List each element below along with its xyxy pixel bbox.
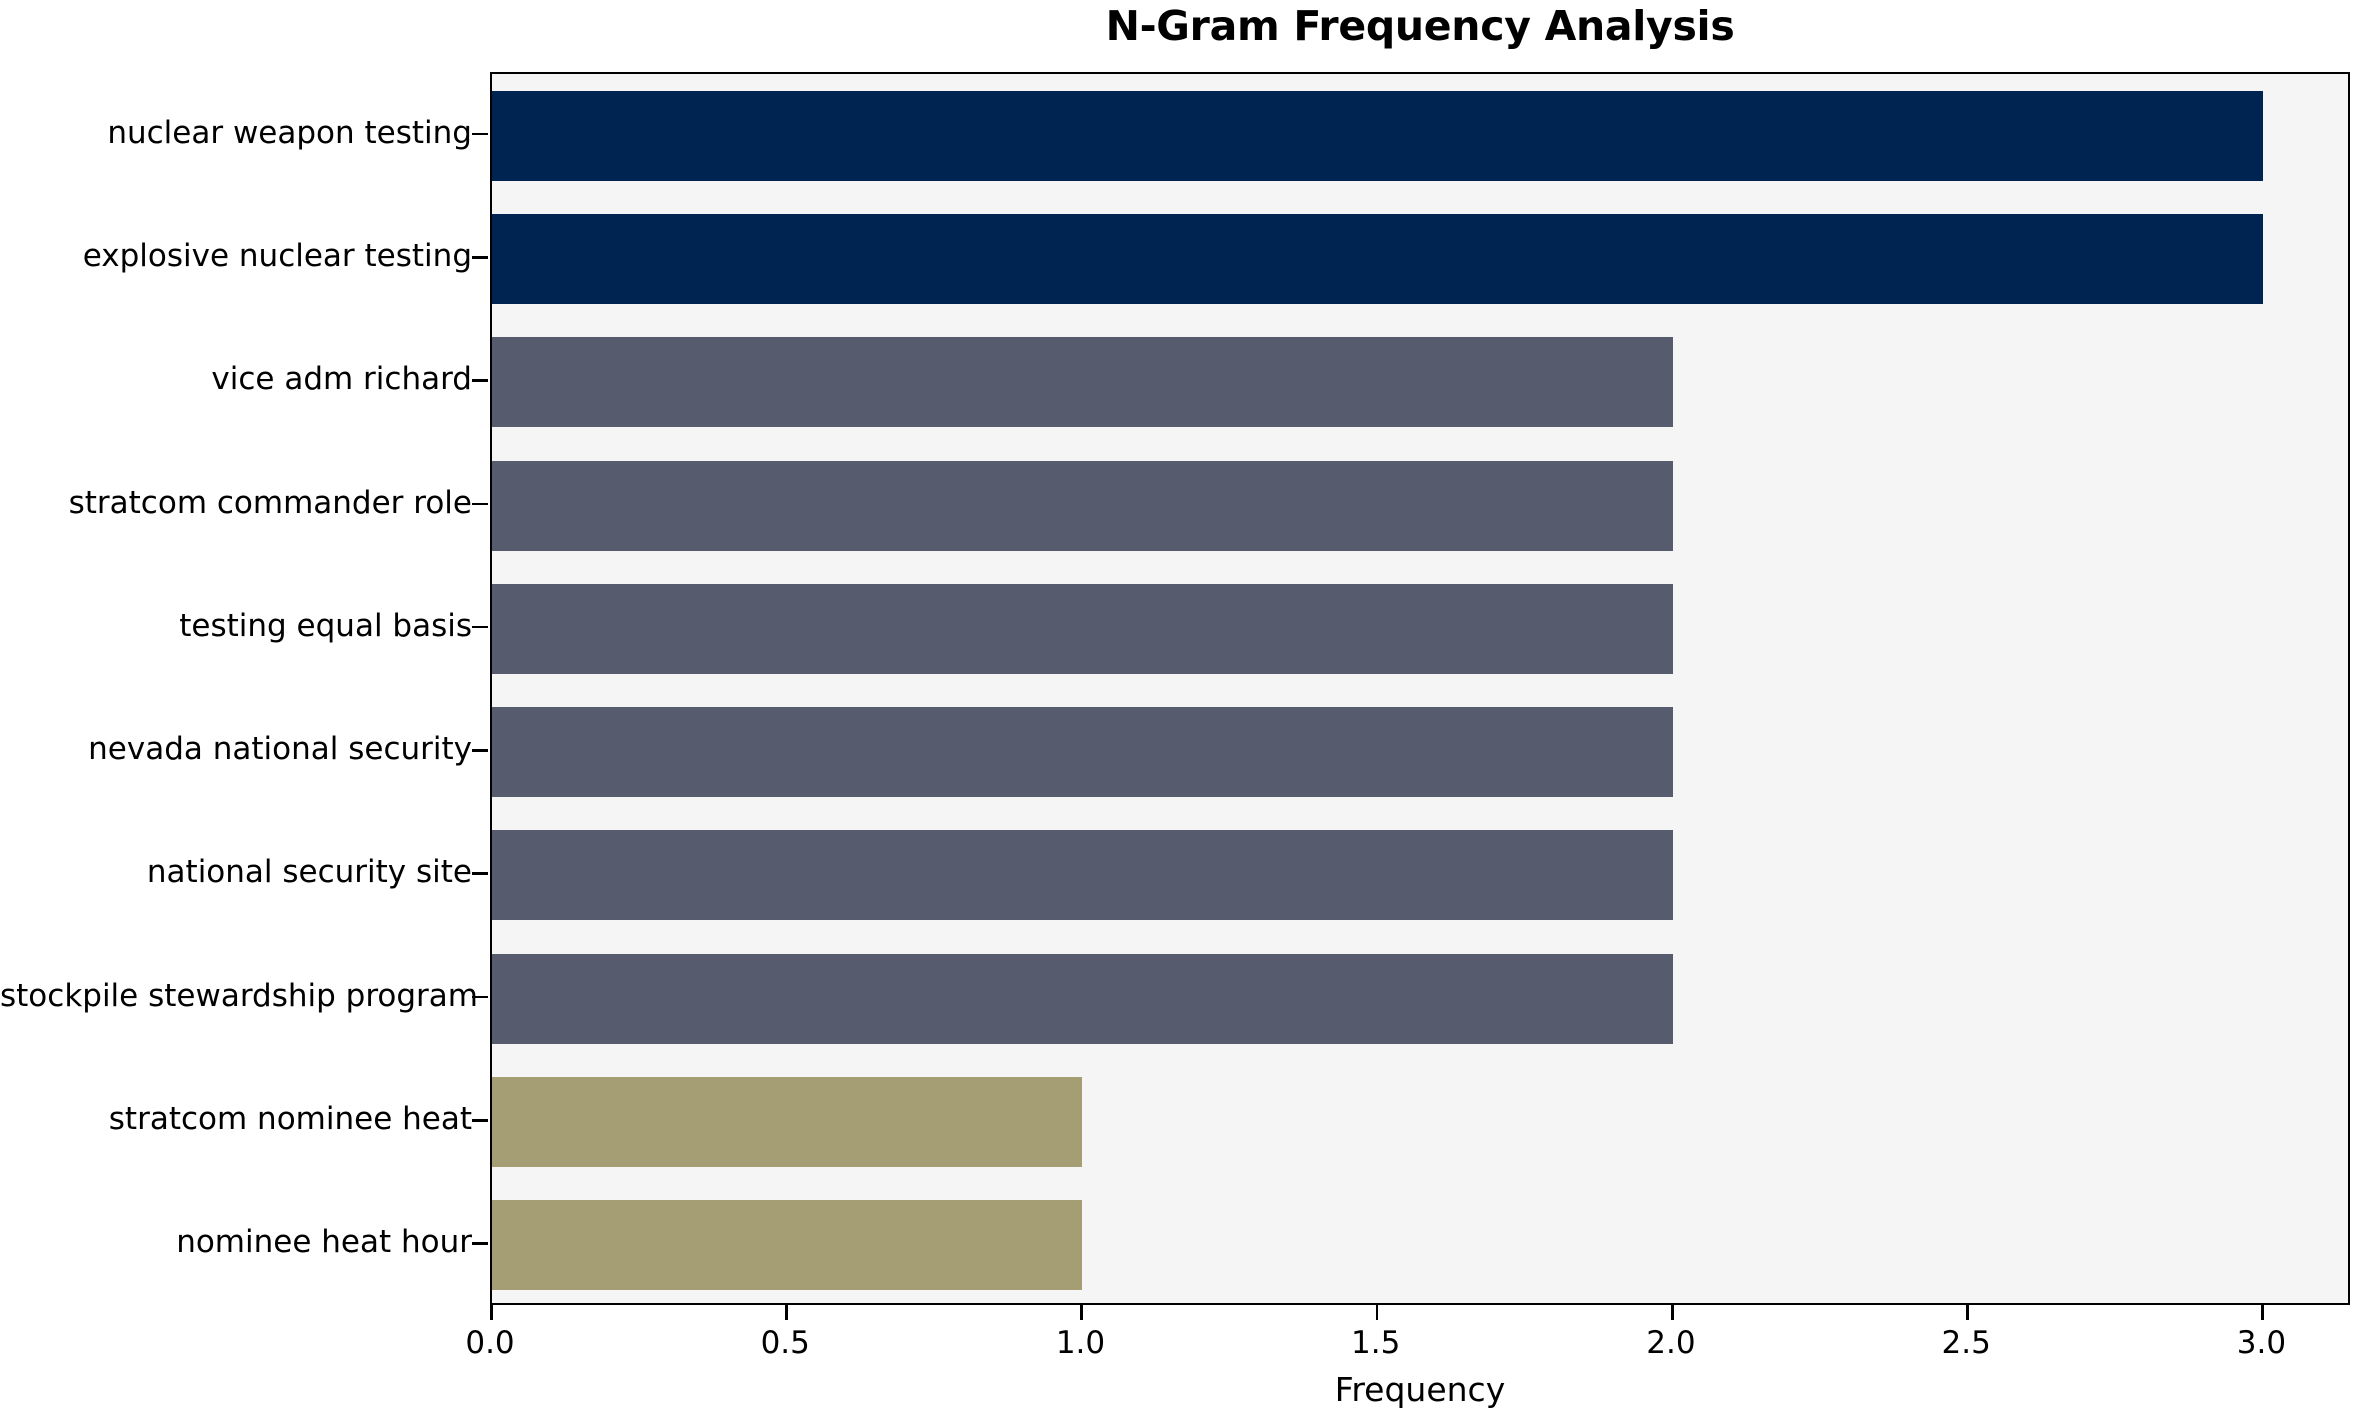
x-axis-label: Frequency — [490, 1370, 2350, 1409]
page-title: N-Gram Frequency Analysis — [490, 2, 2350, 50]
bar — [492, 707, 1673, 797]
y-axis-tick-mark — [472, 503, 488, 506]
x-axis-tick-mark — [1080, 1305, 1083, 1320]
y-axis-tick-label: testing equal basis — [0, 611, 472, 642]
x-axis-tick-label: 1.5 — [1316, 1325, 1436, 1361]
x-axis-tick-mark — [1376, 1305, 1379, 1320]
y-axis-tick-mark — [472, 1119, 488, 1122]
y-axis-tick-mark — [472, 256, 488, 259]
y-axis-tick-mark — [472, 626, 488, 629]
y-axis-tick-label: stockpile stewardship program — [0, 981, 472, 1012]
x-axis-tick-label: 1.0 — [1020, 1325, 1140, 1361]
bar — [492, 954, 1673, 1044]
x-axis-tick-label: 3.0 — [2201, 1325, 2321, 1361]
y-axis-tick-label: stratcom nominee heat — [0, 1104, 472, 1135]
y-axis-tick-label: stratcom commander role — [0, 488, 472, 519]
y-axis-labels: nuclear weapon testingexplosive nuclear … — [0, 0, 472, 1414]
x-axis-tick-label: 0.5 — [725, 1325, 845, 1361]
bar — [492, 214, 2263, 304]
y-axis-tick-label: national security site — [0, 857, 472, 888]
x-axis-tick-label: 0.0 — [430, 1325, 550, 1361]
y-axis-tick-mark — [472, 133, 488, 136]
bar — [492, 830, 1673, 920]
y-axis-tick-label: nuclear weapon testing — [0, 118, 472, 149]
bars-layer — [492, 74, 2348, 1303]
y-axis-tick-label: vice adm richard — [0, 364, 472, 395]
y-axis-tick-label: nominee heat hour — [0, 1227, 472, 1258]
y-axis-tick-mark — [472, 996, 488, 999]
bar — [492, 91, 2263, 181]
y-axis-tick-mark — [472, 379, 488, 382]
bar — [492, 337, 1673, 427]
y-axis-tick-mark — [472, 749, 488, 752]
x-axis-tick-mark — [1966, 1305, 1969, 1320]
x-axis-tick-mark — [785, 1305, 788, 1320]
bar — [492, 461, 1673, 551]
x-axis-tick-mark — [490, 1305, 493, 1320]
x-axis-tick-label: 2.5 — [1906, 1325, 2026, 1361]
y-axis-tick-mark — [472, 1242, 488, 1245]
x-axis-tick-mark — [1671, 1305, 1674, 1320]
figure-canvas: N-Gram Frequency Analysis nuclear weapon… — [0, 0, 2369, 1414]
y-axis-tick-label: nevada national security — [0, 734, 472, 765]
x-axis-tick-label: 2.0 — [1611, 1325, 1731, 1361]
x-axis-tick-mark — [2261, 1305, 2264, 1320]
y-axis-tick-mark — [472, 872, 488, 875]
bar — [492, 1077, 1082, 1167]
plot-area — [490, 72, 2350, 1305]
bar — [492, 584, 1673, 674]
y-axis-tick-label: explosive nuclear testing — [0, 241, 472, 272]
bar — [492, 1200, 1082, 1290]
